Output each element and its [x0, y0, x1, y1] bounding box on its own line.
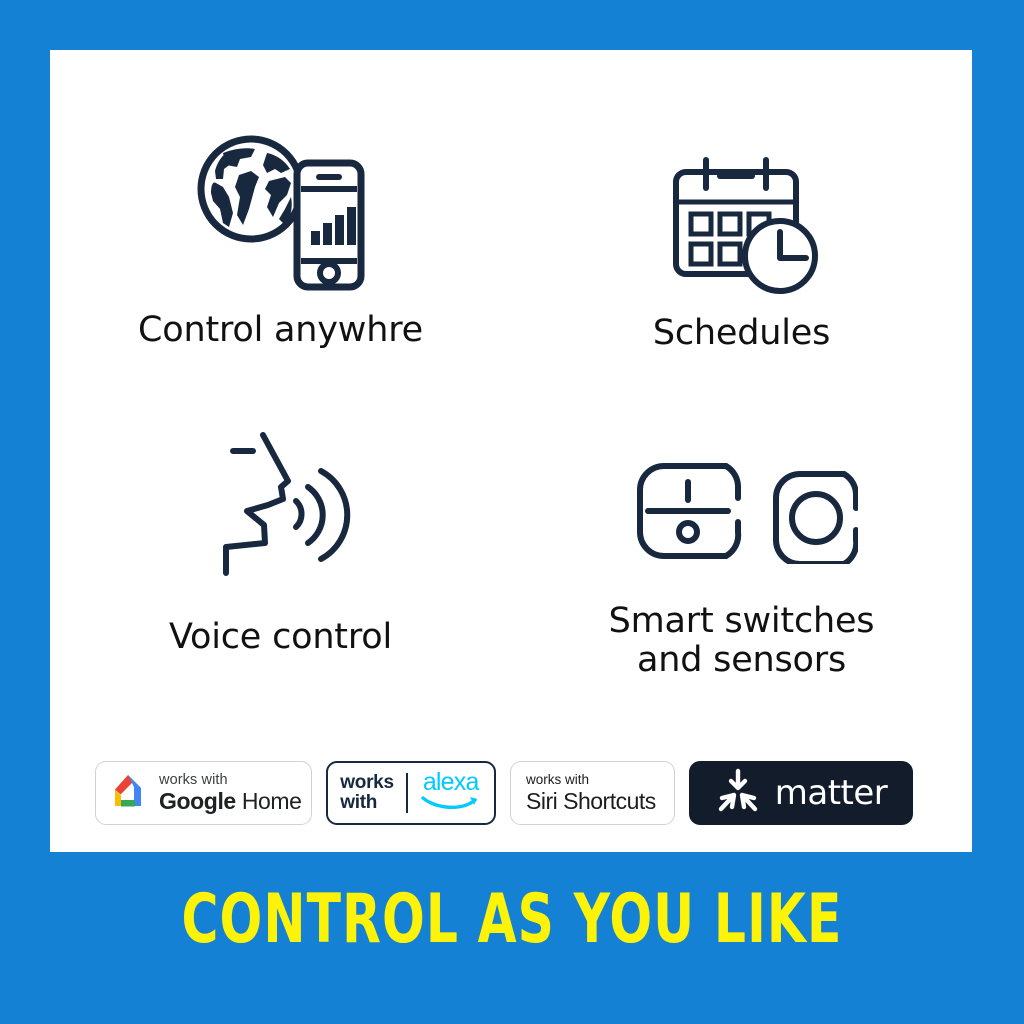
- calendar-clock-icon: [658, 148, 826, 306]
- compatibility-badge-row: works with Google Home works with alexa: [95, 748, 955, 838]
- feature-label-smart-switches: Smart switches and sensors: [609, 602, 875, 680]
- feature-grid: Control anywhre: [50, 50, 972, 698]
- badge-matter[interactable]: matter: [689, 761, 913, 825]
- feature-smart-switches: Smart switches and sensors: [511, 374, 972, 698]
- alexa-divider: [406, 773, 408, 813]
- alexa-mark: alexa: [420, 771, 482, 816]
- feature-label-line2: and sensors: [637, 640, 846, 680]
- siri-works-with: works with: [526, 773, 656, 787]
- google-home-text: works with Google Home: [159, 773, 302, 814]
- speaking-head-icon: [201, 422, 361, 582]
- google-home-brand-bold: Google: [159, 788, 236, 814]
- amazon-smile-icon: [420, 794, 482, 815]
- matter-arrows-icon: [715, 768, 761, 819]
- matter-wordmark: matter: [775, 776, 888, 810]
- google-home-house-icon: [108, 771, 148, 816]
- feature-label-voice-control: Voice control: [169, 618, 392, 657]
- feature-label-control-anywhere: Control anywhre: [138, 311, 423, 350]
- feature-voice-control: Voice control: [50, 374, 511, 698]
- switch-sensor-icon: [626, 454, 858, 566]
- alexa-wordmark: alexa: [423, 771, 479, 795]
- alexa-works-line1: works: [340, 772, 393, 793]
- feature-label-line1: Smart switches: [609, 601, 875, 641]
- feature-schedules: Schedules: [511, 50, 972, 374]
- badge-google-home[interactable]: works with Google Home: [95, 761, 312, 825]
- feature-label-schedules: Schedules: [653, 314, 830, 353]
- badge-alexa[interactable]: works with alexa: [326, 761, 496, 825]
- alexa-works-with: works with: [340, 773, 393, 813]
- feature-control-anywhere: Control anywhre: [50, 50, 511, 374]
- headline: CONTROL AS YOU LIKE: [133, 880, 891, 959]
- badge-siri-shortcuts[interactable]: works with Siri Shortcuts: [510, 761, 675, 825]
- alexa-works-line2: with: [340, 792, 377, 813]
- feature-card: Control anywhre: [50, 50, 972, 852]
- siri-text: works with Siri Shortcuts: [526, 773, 656, 814]
- google-home-brand: Google Home: [159, 790, 302, 813]
- google-home-brand-light: Home: [236, 788, 302, 814]
- siri-brand: Siri Shortcuts: [526, 790, 656, 813]
- globe-phone-icon: [193, 128, 368, 303]
- google-home-works-with: works with: [159, 773, 302, 788]
